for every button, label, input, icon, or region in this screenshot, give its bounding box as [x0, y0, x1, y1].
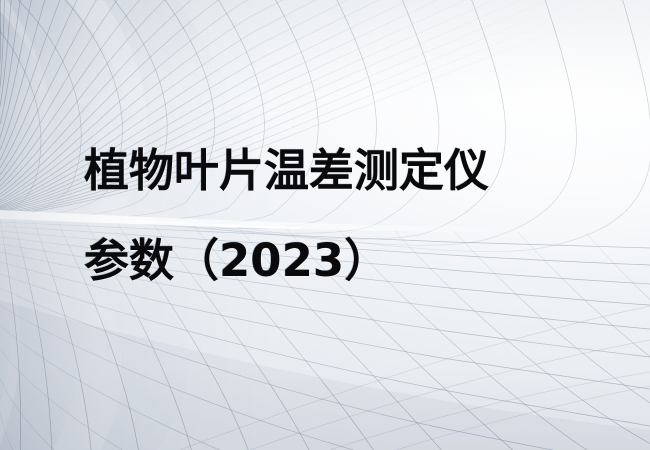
title-line-1: 植物叶片温差测定仪 [84, 126, 624, 216]
title-line-2: 参数（2023） [84, 216, 624, 306]
title-slide: 植物叶片温差测定仪 参数（2023） [0, 0, 650, 450]
page-title: 植物叶片温差测定仪 参数（2023） [84, 126, 624, 306]
